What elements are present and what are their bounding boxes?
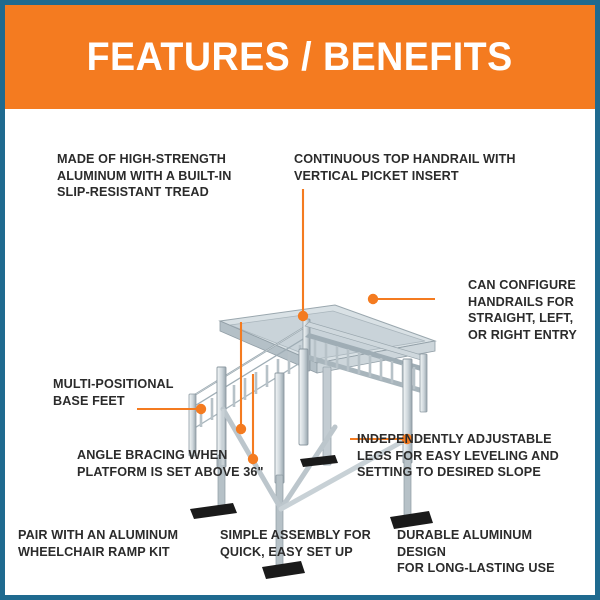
footer-item-durable-design: DURABLE ALUMINUM DESIGN FOR LONG-LASTING…	[397, 527, 582, 577]
callout-material: MADE OF HIGH-STRENGTH ALUMINUM WITH A BU…	[57, 151, 247, 201]
callout-configure: CAN CONFIGURE HANDRAILS FOR STRAIGHT, LE…	[468, 277, 587, 343]
illustration-canvas: MADE OF HIGH-STRENGTH ALUMINUM WITH A BU…	[5, 109, 595, 595]
footer-item-simple-assembly: SIMPLE ASSEMBLY FOR QUICK, EASY SET UP	[220, 527, 386, 560]
callout-adjustable-legs: INDEPENDENTLY ADJUSTABLE LEGS FOR EASY L…	[357, 431, 571, 481]
page-title: FEATURES / BENEFITS	[87, 37, 513, 77]
infographic-page: FEATURES / BENEFITS	[0, 0, 600, 600]
footer-item-pair-ramp-kit: PAIR WITH AN ALUMINUM WHEELCHAIR RAMP KI…	[18, 527, 194, 560]
callout-base-feet: MULTI-POSITIONAL BASE FEET	[53, 376, 191, 409]
callout-angle-bracing: ANGLE BRACING WHEN PLATFORM IS SET ABOVE…	[77, 447, 286, 480]
callout-handrail: CONTINUOUS TOP HANDRAIL WITH VERTICAL PI…	[294, 151, 541, 184]
header-banner: FEATURES / BENEFITS	[5, 5, 595, 109]
